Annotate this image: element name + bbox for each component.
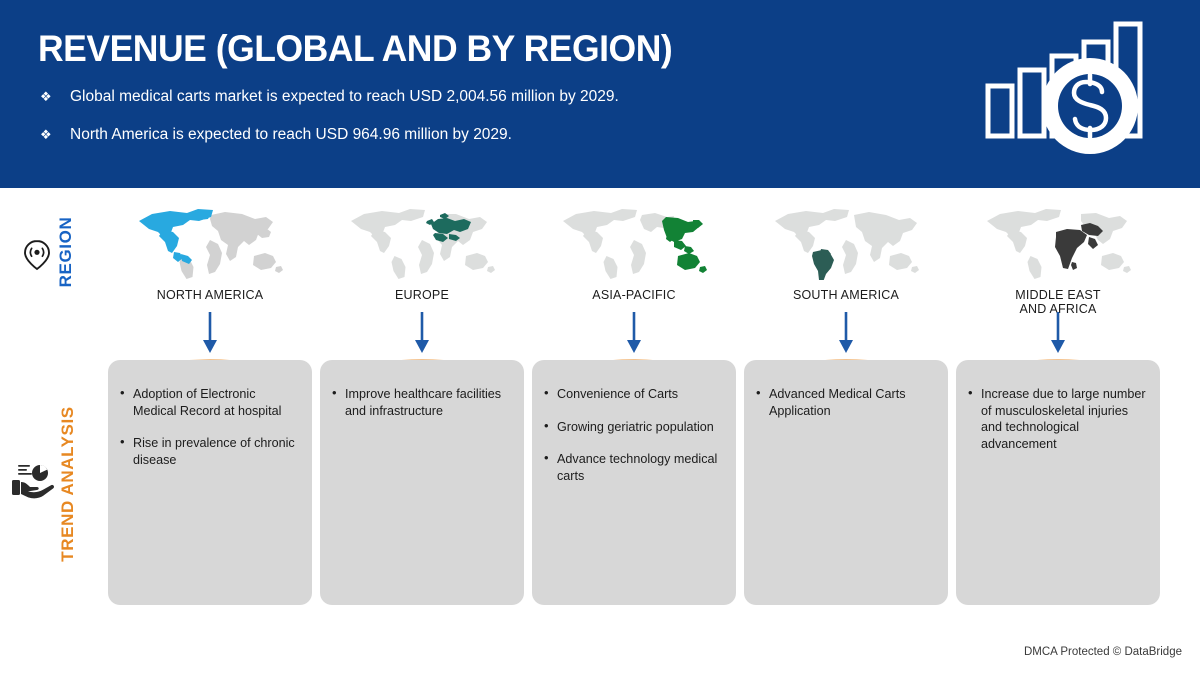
header-bullet-item: ❖ Global medical carts market is expecte…: [40, 86, 619, 108]
trend-card-south-america: Advanced Medical Carts Application: [744, 360, 948, 605]
rail-label-region: REGION: [56, 217, 76, 288]
trend-list: Increase due to large number of musculos…: [968, 386, 1146, 452]
region-label-line: NORTH AMERICA: [157, 288, 264, 302]
region-column-north-america: NORTH AMERICA Adoption of Electronic Med…: [108, 196, 312, 626]
trend-card-wrap: Adoption of Electronic Medical Record at…: [108, 360, 312, 605]
trend-item: Advance technology medical carts: [544, 451, 722, 484]
header-bullet-text: North America is expected to reach USD 9…: [70, 124, 512, 146]
world-map-north-america-highlighted: [135, 204, 285, 280]
region-label: NORTH AMERICA: [108, 288, 312, 302]
trend-card-asia-pacific: Convenience of Carts Growing geriatric p…: [532, 360, 736, 605]
region-label-line: SOUTH AMERICA: [793, 288, 899, 302]
region-label: ASIA-PACIFIC: [532, 288, 736, 302]
region-columns: NORTH AMERICA Adoption of Electronic Med…: [108, 196, 1168, 626]
header-bullet-list: ❖ Global medical carts market is expecte…: [40, 86, 619, 162]
infographic-page: REVENUE (GLOBAL AND BY REGION) ❖ Global …: [0, 0, 1200, 675]
down-arrow-icon: [956, 312, 1160, 358]
down-arrow-icon: [744, 312, 948, 358]
trend-item: Increase due to large number of musculos…: [968, 386, 1146, 452]
trend-item: Adoption of Electronic Medical Record at…: [120, 386, 298, 419]
header-bullet-item: ❖ North America is expected to reach USD…: [40, 124, 619, 146]
down-arrow-icon: [108, 312, 312, 358]
trend-item: Improve healthcare facilities and infras…: [332, 386, 510, 419]
region-column-middle-east-africa: MIDDLE EAST AND AFRICA Increase due to: [956, 196, 1160, 626]
trend-list: Adoption of Electronic Medical Record at…: [120, 386, 298, 468]
trend-list: Improve healthcare facilities and infras…: [332, 386, 510, 419]
region-label-line: MIDDLE EAST: [1015, 288, 1101, 302]
trend-list: Advanced Medical Carts Application: [756, 386, 934, 419]
world-map-middle-east-africa-highlighted: [983, 204, 1133, 280]
trend-list: Convenience of Carts Growing geriatric p…: [544, 386, 722, 484]
trend-card-north-america: Adoption of Electronic Medical Record at…: [108, 360, 312, 605]
trend-card-wrap: Improve healthcare facilities and infras…: [320, 360, 524, 605]
region-label-line: EUROPE: [395, 288, 449, 302]
world-map-asia-pacific-highlighted: [559, 204, 709, 280]
rail-region: REGION: [0, 196, 106, 326]
diamond-bullet-icon: ❖: [40, 124, 70, 146]
trend-item: Growing geriatric population: [544, 419, 722, 436]
page-title: REVENUE (GLOBAL AND BY REGION): [38, 28, 672, 70]
dollar-bar-chart-icon: [980, 14, 1160, 174]
diamond-bullet-icon: ❖: [40, 86, 70, 108]
region-label: EUROPE: [320, 288, 524, 302]
rail-trend: TREND ANALYSIS: [0, 366, 106, 616]
region-label: SOUTH AMERICA: [744, 288, 948, 302]
trend-card-wrap: Convenience of Carts Growing geriatric p…: [532, 360, 736, 605]
down-arrow-icon: [320, 312, 524, 358]
trend-item: Rise in prevalence of chronic disease: [120, 435, 298, 468]
trend-card-wrap: Advanced Medical Carts Application: [744, 360, 948, 605]
region-column-south-america: SOUTH AMERICA Advanced Medical Carts App…: [744, 196, 948, 626]
trend-card-middle-east-africa: Increase due to large number of musculos…: [956, 360, 1160, 605]
world-map-south-america-highlighted: [771, 204, 921, 280]
rail-label-trend: TREND ANALYSIS: [58, 406, 78, 561]
region-column-europe: EUROPE Improve healthcare facilities and…: [320, 196, 524, 626]
footer-copyright: DMCA Protected © DataBridge: [1024, 646, 1182, 658]
region-column-asia-pacific: ASIA-PACIFIC Convenience of Carts G: [532, 196, 736, 626]
down-arrow-icon: [532, 312, 736, 358]
trend-item: Convenience of Carts: [544, 386, 722, 403]
location-pin-icon: [20, 238, 54, 277]
world-map-europe-highlighted: [347, 204, 497, 280]
trend-item: Advanced Medical Carts Application: [756, 386, 934, 419]
header-banner: REVENUE (GLOBAL AND BY REGION) ❖ Global …: [0, 0, 1200, 188]
region-label-line: ASIA-PACIFIC: [592, 288, 675, 302]
trend-card-europe: Improve healthcare facilities and infras…: [320, 360, 524, 605]
header-bullet-text: Global medical carts market is expected …: [70, 86, 619, 108]
trend-card-wrap: Increase due to large number of musculos…: [956, 360, 1160, 605]
hand-holding-pie-chart-icon: [10, 462, 56, 507]
